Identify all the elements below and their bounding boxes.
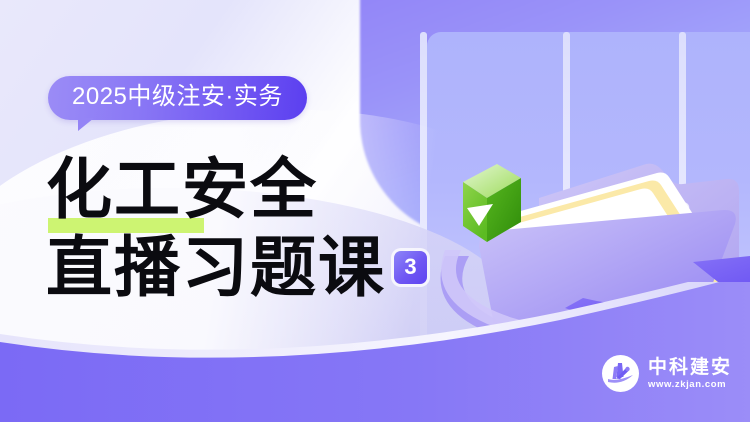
course-tag-pill-wrap: 2025中级注安·实务: [48, 76, 307, 120]
headline-line-1: 化工安全: [46, 152, 427, 226]
headline-line-2: 直播习题课 3: [46, 230, 427, 304]
episode-number-badge: 3: [394, 251, 427, 284]
headline-line-2-text: 直播习题课: [46, 230, 386, 304]
headline-block: 化工安全 直播习题课 3: [46, 152, 427, 304]
course-tag-pill: 2025中级注安·实务: [48, 76, 307, 120]
brand-logo-text: 中科建安 www.zkjan.com: [648, 358, 732, 390]
headline-line-1-text: 化工安全: [46, 150, 318, 228]
course-tag-label: 2025中级注安·实务: [72, 83, 283, 110]
course-poster: 2025中级注安·实务 化工安全 直播习题课 3 中科建安: [0, 0, 750, 422]
pill-tail: [78, 118, 94, 131]
brand-name: 中科建安: [648, 358, 732, 377]
brand-url: www.zkjan.com: [648, 380, 732, 390]
brand-logo: 中科建安 www.zkjan.com: [602, 355, 732, 392]
zkjan-logo-icon: [602, 355, 639, 392]
